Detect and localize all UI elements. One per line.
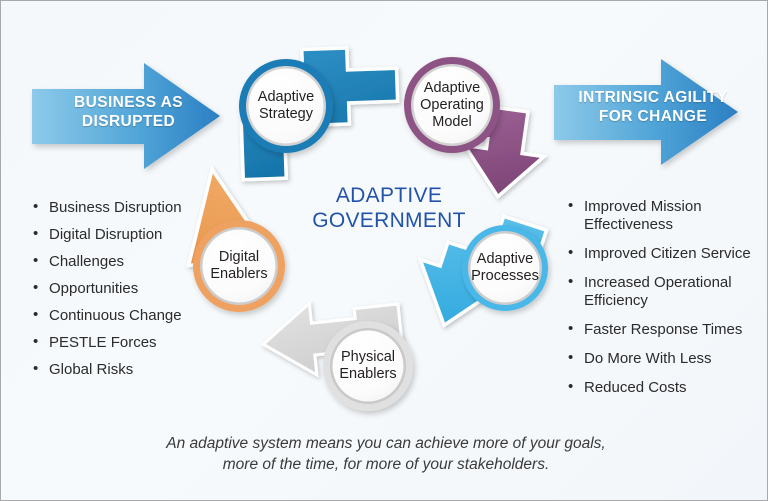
inputs-list: Business Disruption Digital Disruption C… [31, 199, 221, 388]
list-item: Challenges [31, 253, 221, 271]
list-item: Do More With Less [566, 350, 756, 368]
list-item: Faster Response Times [566, 321, 756, 339]
list-item: Improved Mission Effectiveness [566, 198, 756, 234]
list-item: Improved Citizen Service [566, 245, 756, 263]
diagram-caption: An adaptive system means you can achieve… [101, 433, 671, 475]
banner-label-right: INTRINSIC AGILITY FOR CHANGE [563, 88, 743, 126]
outcomes-list: Improved Mission Effectiveness Improved … [566, 198, 756, 408]
list-item: PESTLE Forces [31, 334, 221, 352]
list-item: Increased Operational Efficiency [566, 274, 756, 310]
banner-label-left: BUSINESS AS DISRUPTED [41, 93, 216, 131]
list-item: Digital Disruption [31, 226, 221, 244]
node-adaptive-operating-model[interactable] [404, 57, 500, 153]
node-adaptive-processes[interactable] [462, 225, 548, 311]
list-item: Global Risks [31, 361, 221, 379]
node-adaptive-strategy[interactable] [239, 59, 333, 153]
node-physical-enablers[interactable] [323, 321, 413, 411]
list-item: Opportunities [31, 280, 221, 298]
list-item: Reduced Costs [566, 379, 756, 397]
center-title: ADAPTIVE GOVERNMENT [289, 183, 489, 233]
list-item: Business Disruption [31, 199, 221, 217]
adaptive-government-diagram: BUSINESS AS DISRUPTED INTRINSIC AGILITY … [0, 0, 768, 501]
list-item: Continuous Change [31, 307, 221, 325]
